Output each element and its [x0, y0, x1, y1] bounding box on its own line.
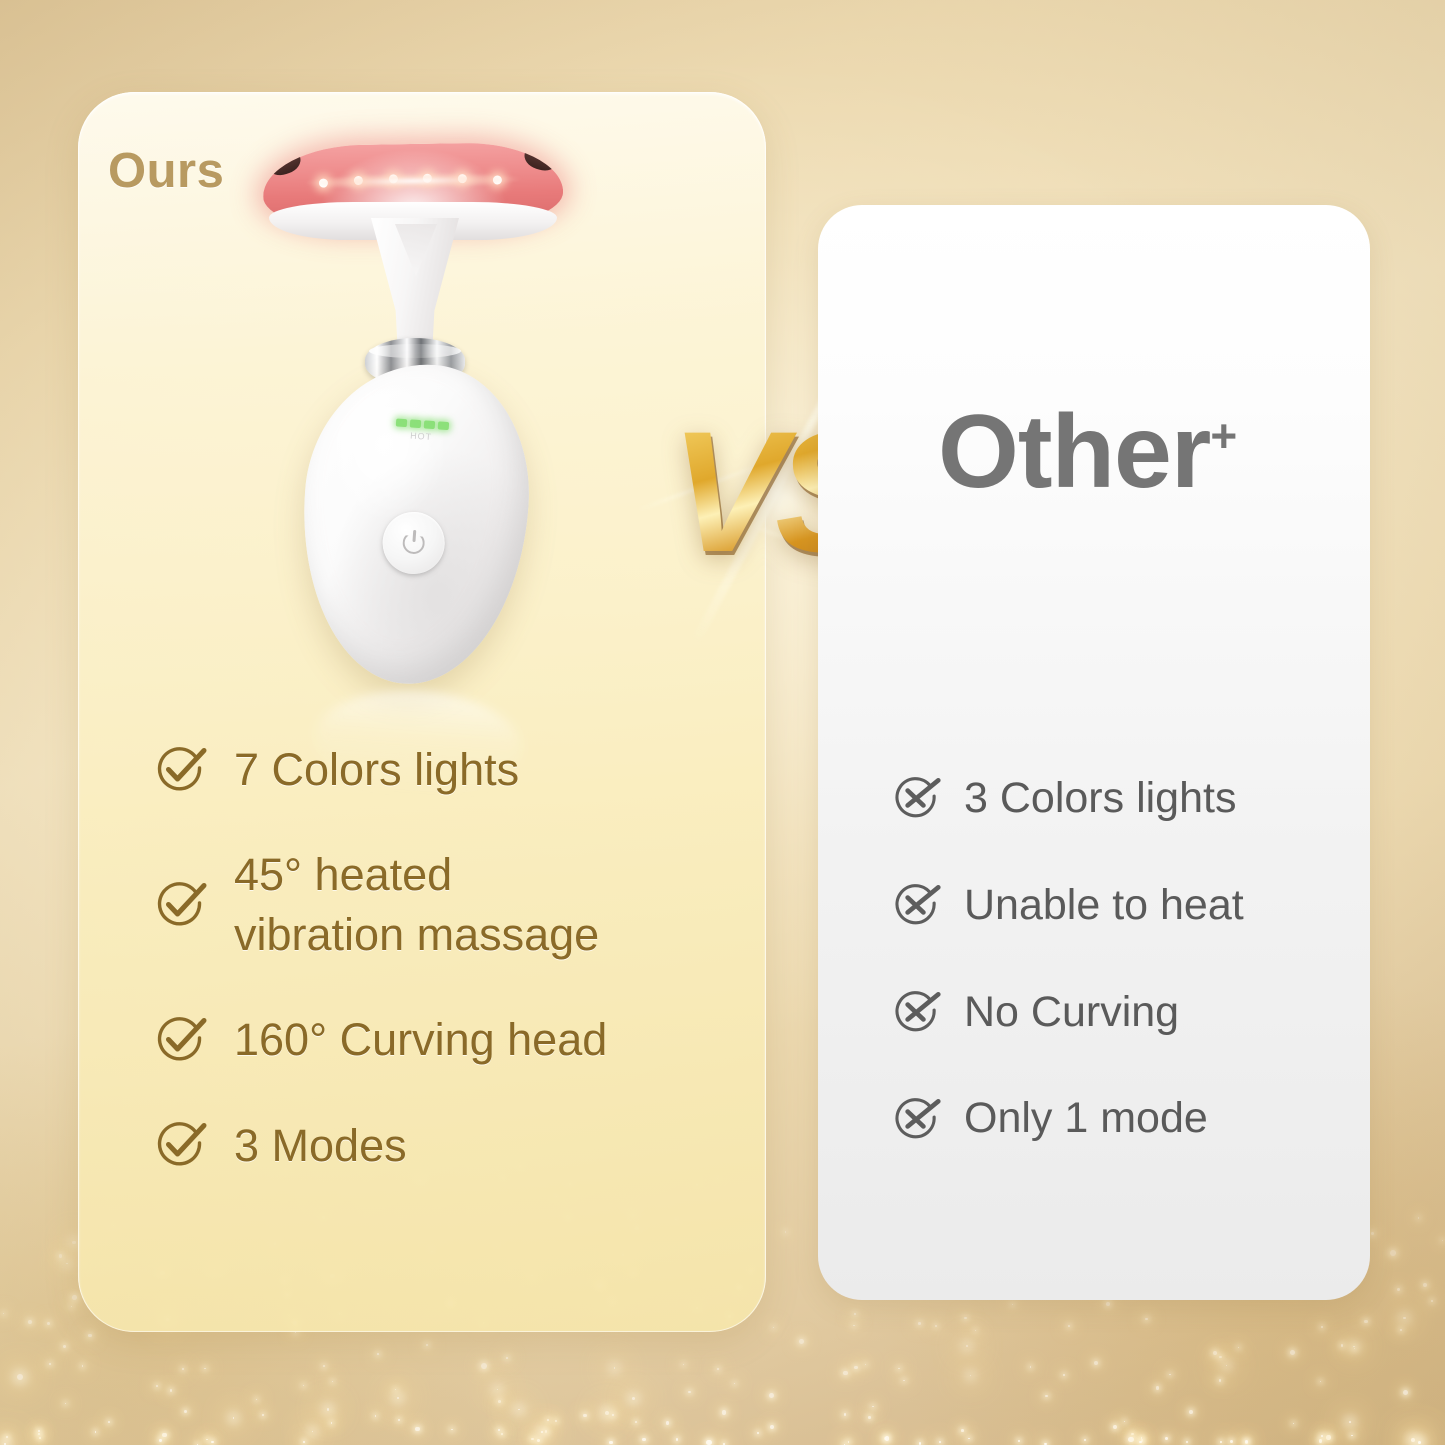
sparkle-dot — [1084, 1439, 1086, 1441]
sparkle-dot — [964, 1317, 967, 1320]
sparkle-dot — [1403, 1390, 1408, 1395]
sparkle-dot — [39, 1437, 41, 1439]
sparkle-dot — [3, 1313, 4, 1314]
sparkle-dot — [397, 1397, 399, 1399]
sparkle-dot — [1397, 1288, 1400, 1291]
sparkle-dot — [975, 1330, 977, 1332]
check-circle-icon — [152, 1117, 208, 1173]
sparkle-dot — [1411, 1438, 1415, 1442]
device-power-button[interactable] — [381, 510, 447, 576]
sparkle-dot — [327, 1408, 330, 1411]
sparkle-dot — [159, 1439, 161, 1441]
cross-circle-icon — [890, 1093, 942, 1145]
sparkle-dot — [59, 1254, 63, 1258]
ours-feature-label: 160° Curving head — [234, 1010, 607, 1069]
sparkle-dot — [1045, 1395, 1048, 1398]
sparkle-dot — [1030, 1366, 1032, 1368]
sparkle-dot — [71, 1306, 73, 1308]
sparkle-dot — [182, 1368, 184, 1370]
product-device-image: HOT — [255, 140, 575, 700]
sparkle-dot — [545, 1430, 548, 1433]
sparkle-dot — [481, 1363, 487, 1369]
sparkle-dot — [204, 1368, 205, 1369]
sparkle-dot — [1189, 1410, 1193, 1414]
sparkle-dot — [170, 1389, 172, 1391]
sparkle-dot — [1349, 1421, 1351, 1423]
sparkle-dot — [211, 1441, 214, 1444]
sparkle-dot — [415, 1427, 419, 1431]
sparkle-dot — [184, 1410, 187, 1413]
sparkle-dot — [844, 1413, 846, 1415]
sparkle-dot — [632, 1397, 635, 1400]
ours-feature-row: 45° heated vibration massage — [152, 845, 732, 964]
sparkle-dot — [63, 1345, 66, 1348]
sparkle-dot — [1094, 1361, 1098, 1365]
other-feature-label: 3 Colors lights — [964, 770, 1236, 827]
sparkle-dot — [233, 1417, 235, 1419]
sparkle-dot — [609, 1441, 612, 1444]
sparkle-dot — [843, 1371, 848, 1376]
device-indicator-bars — [390, 418, 454, 430]
sparkle-dot — [1354, 1348, 1355, 1349]
sparkle-dot — [1403, 1317, 1405, 1319]
sparkle-dot — [1219, 1379, 1222, 1382]
sparkle-dot — [666, 1421, 670, 1425]
sparkle-dot — [717, 1368, 719, 1370]
sparkle-dot — [375, 1415, 377, 1417]
sparkle-dot — [395, 1389, 396, 1390]
cross-circle-icon — [890, 879, 942, 931]
sparkle-dot — [1156, 1386, 1160, 1390]
other-feature-row: 3 Colors lights — [890, 770, 1330, 827]
sparkle-dot — [498, 1429, 499, 1430]
sparkle-dot — [968, 1438, 969, 1439]
sparkle-dot — [1245, 1440, 1248, 1443]
sparkle-dot — [734, 1383, 735, 1384]
sparkle-dot — [1423, 1283, 1427, 1287]
sparkle-dot — [518, 1409, 519, 1410]
sparkle-dot — [865, 1364, 866, 1365]
sparkle-dot — [47, 1322, 51, 1326]
sparkle-dot — [1238, 1347, 1240, 1349]
sparkle-dot — [38, 1433, 41, 1436]
sparkle-dot — [676, 1438, 678, 1440]
sparkle-dot — [1418, 1441, 1421, 1444]
sparkle-dot — [1230, 1440, 1233, 1443]
sparkle-dot — [1326, 1435, 1331, 1440]
sparkle-dot — [541, 1431, 543, 1433]
sparkle-dot — [1186, 1441, 1188, 1443]
other-feature-row: No Curving — [890, 984, 1330, 1041]
sparkle-dot — [332, 1381, 333, 1382]
sparkle-dot — [303, 1385, 304, 1386]
sparkle-dot — [398, 1419, 399, 1420]
sparkle-dot — [162, 1433, 166, 1437]
sparkle-dot — [1400, 1329, 1402, 1331]
device-body: HOT — [292, 357, 538, 692]
sparkle-dot — [498, 1400, 501, 1403]
ours-feature-label: 7 Colors lights — [234, 740, 519, 799]
sparkle-dot — [451, 1429, 452, 1430]
sparkle-dot — [547, 1419, 549, 1421]
sparkle-dot — [635, 1421, 638, 1424]
check-circle-icon — [152, 1012, 208, 1068]
sparkle-dot — [1145, 1318, 1147, 1320]
sparkle-dot — [262, 1414, 264, 1416]
cross-circle-icon — [890, 879, 942, 931]
ours-feature-row: 160° Curving head — [152, 1010, 732, 1069]
sparkle-dot — [4, 1443, 6, 1445]
cross-circle-icon — [890, 986, 942, 1038]
sparkle-dot — [1431, 1300, 1433, 1302]
sparkle-dot — [961, 1429, 964, 1432]
sparkle-dot — [903, 1380, 904, 1381]
ours-feature-list: 7 Colors lights45° heated vibration mass… — [152, 740, 732, 1175]
sparkle-dot — [1293, 1423, 1294, 1424]
sparkle-dot — [706, 1440, 711, 1445]
sparkle-dot — [872, 1406, 873, 1407]
sparkle-dot — [583, 1414, 586, 1417]
sparkle-dot — [501, 1433, 503, 1435]
sparkle-dot — [1442, 1240, 1443, 1241]
sparkle-dot — [1169, 1374, 1171, 1376]
other-feature-row: Only 1 mode — [890, 1090, 1330, 1147]
ours-feature-row: 3 Modes — [152, 1116, 732, 1175]
sparkle-dot — [38, 1430, 40, 1432]
other-feature-label: No Curving — [964, 984, 1179, 1041]
cross-circle-icon — [890, 986, 942, 1038]
check-circle-icon — [152, 877, 208, 933]
other-panel-title: Other+ — [938, 400, 1236, 504]
power-icon — [402, 531, 425, 554]
sparkle-dot — [1124, 1421, 1125, 1422]
comparison-infographic: Ours HOT — [0, 0, 1445, 1445]
sparkle-dot — [848, 1441, 850, 1443]
sparkle-dot — [531, 1438, 533, 1440]
sparkle-dot — [683, 1364, 684, 1365]
cross-circle-icon — [890, 1093, 942, 1145]
sparkle-dot — [1226, 1365, 1227, 1366]
sparkle-dot — [66, 1263, 67, 1264]
sparkle-dot — [1063, 1374, 1064, 1375]
sparkle-dot — [1012, 1304, 1014, 1306]
sparkle-dot — [773, 1327, 774, 1328]
sparkle-dot — [1371, 1232, 1374, 1235]
sparkle-dot — [1290, 1350, 1295, 1355]
check-circle-icon — [152, 877, 208, 933]
sparkle-dot — [1321, 1326, 1323, 1328]
sparkle-dot — [970, 1375, 971, 1376]
cross-circle-icon — [890, 772, 942, 824]
device-indicator-display: HOT — [388, 418, 454, 452]
sparkle-dot — [898, 1368, 899, 1369]
sparkle-dot — [868, 1416, 871, 1419]
sparkle-dot — [65, 1403, 66, 1404]
sparkle-dot — [331, 1422, 333, 1424]
sparkle-dot — [770, 1425, 774, 1429]
sparkle-dot — [49, 1363, 50, 1364]
sparkle-dot — [108, 1421, 110, 1423]
sparkle-dot — [854, 1366, 858, 1370]
sparkle-dot — [612, 1414, 614, 1416]
sparkle-dot — [377, 1353, 378, 1354]
sparkle-dot — [1364, 1320, 1368, 1324]
ours-feature-row: 7 Colors lights — [152, 740, 732, 799]
sparkle-dot — [799, 1339, 804, 1344]
sparkle-dot — [688, 1391, 691, 1394]
sparkle-dot — [853, 1325, 854, 1326]
sparkle-dot — [885, 1436, 890, 1441]
other-feature-row: Unable to heat — [890, 877, 1330, 934]
sparkle-dot — [1220, 1441, 1221, 1442]
sparkle-dot — [1320, 1381, 1321, 1382]
sparkle-dot — [312, 1431, 313, 1432]
sparkle-dot — [256, 1399, 257, 1400]
sparkle-dot — [426, 1344, 428, 1346]
sparkle-dot — [303, 1441, 305, 1443]
other-feature-list: 3 Colors lightsUnable to heatNo CurvingO… — [890, 770, 1330, 1147]
sparkle-dot — [72, 1241, 75, 1244]
sparkle-dot — [757, 1432, 758, 1433]
check-circle-icon — [152, 1117, 208, 1173]
sparkle-dot — [72, 1295, 77, 1300]
sparkle-dot — [506, 1357, 508, 1359]
sparkle-dot — [28, 1320, 32, 1324]
check-circle-icon — [152, 742, 208, 798]
sparkle-dot — [17, 1374, 23, 1380]
device-indicator-label: HOT — [389, 429, 454, 443]
sparkle-dot — [1018, 1440, 1019, 1441]
sparkle-dot — [1213, 1351, 1217, 1355]
sparkle-dot — [1418, 1217, 1420, 1219]
ours-feature-label: 45° heated vibration massage — [234, 845, 599, 964]
other-feature-label: Only 1 mode — [964, 1090, 1208, 1147]
check-circle-icon — [152, 1012, 208, 1068]
other-panel-title-superscript: + — [1210, 409, 1236, 461]
sparkle-dot — [614, 1367, 615, 1368]
sparkle-dot — [88, 1334, 92, 1338]
sparkle-dot — [1390, 1250, 1396, 1256]
sparkle-dot — [1139, 1441, 1142, 1444]
other-feature-label: Unable to heat — [964, 877, 1244, 934]
sparkle-dot — [1165, 1437, 1168, 1440]
sparkle-dot — [82, 1365, 84, 1367]
ours-panel-title: Ours — [108, 143, 224, 199]
sparkle-dot — [918, 1322, 921, 1325]
sparkle-dot — [1219, 1356, 1222, 1359]
sparkle-dot — [642, 1438, 645, 1441]
cross-circle-icon — [890, 772, 942, 824]
sparkle-dot — [1068, 1325, 1070, 1327]
sparkle-dot — [966, 1345, 968, 1347]
sparkle-dot — [555, 1420, 557, 1422]
device-head-tip-right — [521, 141, 561, 174]
sparkle-dot — [935, 1325, 937, 1327]
sparkle-dot — [854, 1313, 855, 1314]
sparkle-dot — [95, 1431, 96, 1432]
sparkle-dot — [1351, 1435, 1353, 1437]
other-panel-title-text: Other — [938, 394, 1210, 510]
sparkle-dot — [1128, 1437, 1133, 1442]
sparkle-dot — [1341, 1344, 1344, 1347]
sparkle-dot — [1106, 1302, 1111, 1307]
sparkle-dot — [1113, 1425, 1117, 1429]
sparkle-dot — [605, 1411, 609, 1415]
sparkle-dot — [769, 1393, 774, 1398]
sparkle-dot — [156, 1385, 158, 1387]
sparkle-dot — [206, 1439, 207, 1440]
sparkle-dot — [1319, 1439, 1323, 1443]
sparkle-dot — [1321, 1435, 1323, 1437]
check-circle-icon — [152, 742, 208, 798]
sparkle-dot — [497, 1389, 498, 1390]
ours-feature-label: 3 Modes — [234, 1116, 407, 1175]
device-led-row — [311, 172, 515, 190]
sparkle-dot — [919, 1442, 922, 1445]
sparkle-dot — [785, 1231, 787, 1233]
sparkle-dot — [939, 1441, 941, 1443]
sparkle-dot — [6, 1436, 8, 1438]
sparkle-dot — [537, 1439, 540, 1442]
device-head-tip-left — [263, 143, 304, 179]
sparkle-dot — [722, 1410, 726, 1414]
sparkle-dot — [323, 1365, 325, 1367]
sparkle-dot — [1131, 1433, 1133, 1435]
